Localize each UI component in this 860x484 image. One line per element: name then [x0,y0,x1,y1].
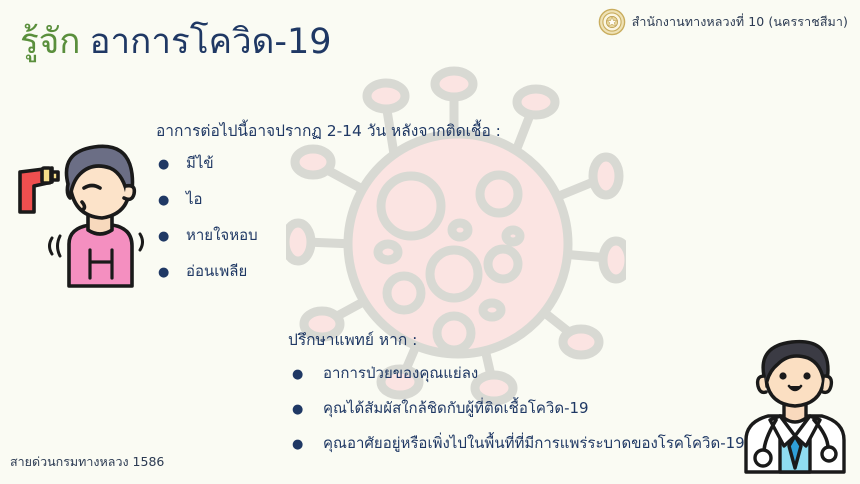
bullet-dot-icon: ● [288,438,323,451]
list-item: ● มีไข้ [156,151,501,175]
page-title: รู้จักอาการโควิด-19 [20,22,332,62]
bullet-dot-icon: ● [156,230,186,243]
list-item: ● ไอ [156,187,501,211]
bullet-dot-icon: ● [156,266,186,279]
list-item: ● อ่อนเพลีย [156,259,501,283]
symptom-label: อ่อนเพลีย [186,259,247,283]
covid-info-slide: สำนักงานทางหลวงที่ 10 (นครราชสีมา) รู้จั… [0,0,860,484]
consult-label: อาการป่วยของคุณแย่ลง [323,361,478,385]
org-header: สำนักงานทางหลวงที่ 10 (นครราชสีมา) [598,8,848,36]
bullet-dot-icon: ● [156,194,186,207]
consult-label: คุณได้สัมผัสใกล้ชิดกับผู้ที่ติดเชื้อโควิ… [323,396,589,420]
list-item: ● คุณได้สัมผัสใกล้ชิดกับผู้ที่ติดเชื้อโค… [288,396,745,420]
consult-label: คุณอาศัยอยู่หรือเพิ่งไปในพื้นที่ที่มีการ… [323,431,745,455]
list-item: ● คุณอาศัยอยู่หรือเพิ่งไปในพื้นที่ที่มีก… [288,431,745,455]
list-item: ● หายใจหอบ [156,223,501,247]
government-seal-icon [598,8,626,36]
symptoms-heading: อาการต่อไปนี้อาจปรากฏ 2-14 วัน หลังจากติ… [156,118,501,143]
list-item: ● อาการป่วยของคุณแย่ลง [288,361,745,385]
bullet-dot-icon: ● [156,158,186,171]
consult-doctor-section: ปรึกษาแพทย์ หาก : ● อาการป่วยของคุณแย่ลง… [288,327,745,466]
consult-list: ● อาการป่วยของคุณแย่ลง ● คุณได้สัมผัสใกล… [288,361,745,455]
symptoms-section: อาการต่อไปนี้อาจปรากฏ 2-14 วัน หลังจากติ… [156,118,501,295]
bullet-dot-icon: ● [288,403,323,416]
symptom-label: มีไข้ [186,151,214,175]
page-title-green: รู้จัก [20,22,81,62]
consult-heading: ปรึกษาแพทย์ หาก : [288,327,745,352]
symptom-label: ไอ [186,187,203,211]
bullet-dot-icon: ● [288,368,323,381]
symptom-label: หายใจหอบ [186,223,258,247]
hotline-footer: สายด่วนกรมทางหลวง 1586 [10,452,164,472]
symptoms-list: ● มีไข้ ● ไอ ● หายใจหอบ ● อ่อนเพลีย [156,151,501,283]
org-name: สำนักงานทางหลวงที่ 10 (นครราชสีมา) [632,12,848,32]
page-title-navy: อาการโควิด-19 [90,22,332,62]
person-with-fever-thermometer-icon [12,138,144,290]
doctor-with-stethoscope-icon [736,336,854,476]
